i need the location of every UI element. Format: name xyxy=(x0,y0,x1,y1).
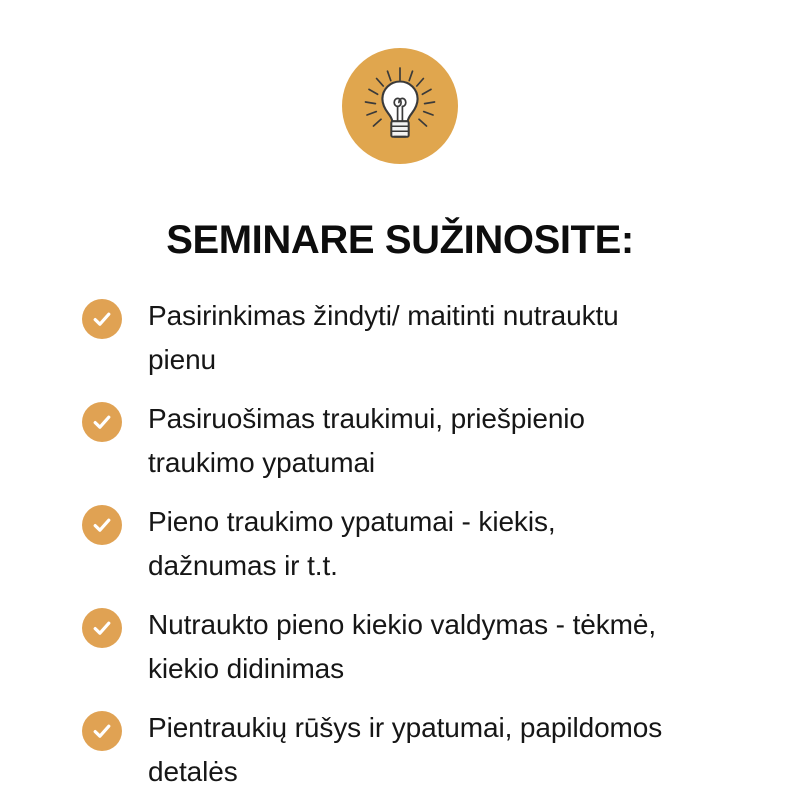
list-item-label: Nutraukto pieno kiekio valdymas - tėkmė,… xyxy=(148,603,678,691)
check-circle-icon xyxy=(82,299,122,339)
list-item-label: Pasirinkimas žindyti/ maitinti nutrauktu… xyxy=(148,294,678,382)
check-circle-icon xyxy=(82,505,122,545)
list-item: Pasiruošimas traukimui, priešpienio trau… xyxy=(82,397,722,485)
list-item: Pieno traukimo ypatumai - kiekis, dažnum… xyxy=(82,500,722,588)
list-item-label: Pientraukių rūšys ir ypatumai, papildomo… xyxy=(148,706,678,794)
list-item: Pasirinkimas žindyti/ maitinti nutrauktu… xyxy=(82,294,722,382)
check-circle-icon xyxy=(82,402,122,442)
lightbulb-icon xyxy=(363,67,437,145)
list-item-label: Pieno traukimo ypatumai - kiekis, dažnum… xyxy=(148,500,678,588)
list-item-label: Pasiruošimas traukimui, priešpienio trau… xyxy=(148,397,678,485)
list-item: Nutraukto pieno kiekio valdymas - tėkmė,… xyxy=(82,603,722,691)
page-title: SEMINARE SUŽINOSITE: xyxy=(0,217,800,263)
check-circle-icon xyxy=(82,608,122,648)
checklist: Pasirinkimas žindyti/ maitinti nutrauktu… xyxy=(82,294,722,794)
list-item: Pientraukių rūšys ir ypatumai, papildomo… xyxy=(82,706,722,794)
check-circle-icon xyxy=(82,711,122,751)
slide-root: SEMINARE SUŽINOSITE: Pasirinkimas žindyt… xyxy=(0,0,800,800)
lightbulb-badge xyxy=(342,48,458,164)
badge-container xyxy=(0,48,800,164)
